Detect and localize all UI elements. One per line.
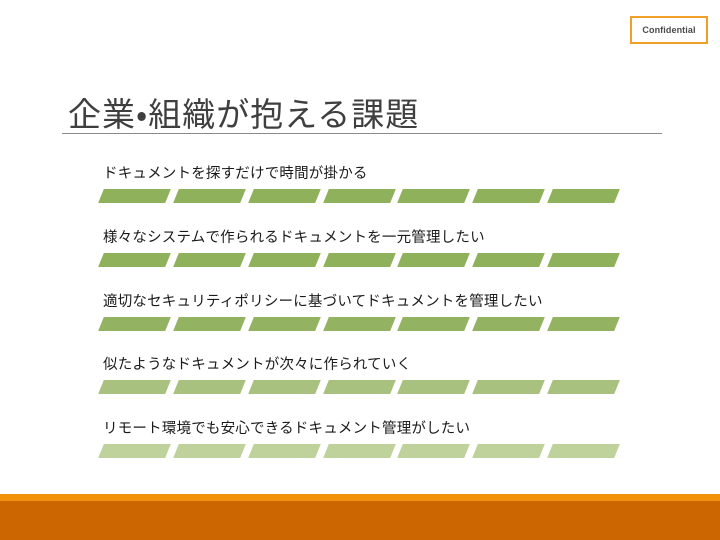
bullet-item-label: 様々なシステムで作られるドキュメントを一元管理したい	[103, 226, 485, 247]
page-title: 企業・組織が抱える課題	[68, 88, 419, 136]
underline-bar-segment	[472, 317, 545, 331]
underline-bar-segment	[398, 253, 471, 267]
bullet-item-label: 適切なセキュリティポリシーに基づいてドキュメントを管理したい	[103, 290, 543, 311]
underline-bar-segment	[398, 380, 471, 394]
confidential-badge: Confidential	[630, 16, 708, 44]
underline-bar-segment	[98, 444, 171, 458]
underline-bar-segment	[472, 189, 545, 203]
presentation-slide: Confidential 企業・組織が抱える課題 ドキュメントを探すだけで時間が…	[0, 0, 720, 540]
title-divider	[62, 133, 662, 134]
underline-bar-segment	[547, 380, 620, 394]
bullet-underline-bars	[101, 444, 617, 458]
footer-bar: VICENT COPYRIGHT©VICENT CO.,LTD. ALL RIG…	[0, 501, 720, 540]
underline-bar-segment	[547, 317, 620, 331]
underline-bar-segment	[248, 380, 321, 394]
underline-bar-segment	[173, 444, 246, 458]
underline-bar-segment	[248, 317, 321, 331]
underline-bar-segment	[173, 317, 246, 331]
underline-bar-segment	[248, 253, 321, 267]
confidential-badge-label: Confidential	[642, 25, 695, 35]
underline-bar-segment	[398, 317, 471, 331]
underline-bar-segment	[472, 253, 545, 267]
underline-bar-segment	[323, 253, 396, 267]
underline-bar-segment	[173, 189, 246, 203]
underline-bar-segment	[98, 253, 171, 267]
underline-bar-segment	[323, 189, 396, 203]
bullet-underline-bars	[101, 253, 617, 267]
underline-bar-segment	[98, 189, 171, 203]
underline-bar-segment	[398, 444, 471, 458]
underline-bar-segment	[173, 253, 246, 267]
underline-bar-segment	[547, 444, 620, 458]
underline-bar-segment	[248, 444, 321, 458]
underline-bar-segment	[98, 380, 171, 394]
underline-bar-segment	[248, 189, 321, 203]
bullet-underline-bars	[101, 380, 617, 394]
bullet-item-label: ドキュメントを探すだけで時間が掛かる	[103, 162, 368, 183]
footer-accent-stripe	[0, 494, 720, 501]
bullet-item-label: リモート環境でも安心できるドキュメント管理がしたい	[103, 417, 470, 438]
underline-bar-segment	[398, 189, 471, 203]
bullet-underline-bars	[101, 317, 617, 331]
underline-bar-segment	[323, 317, 396, 331]
underline-bar-segment	[547, 189, 620, 203]
bullet-underline-bars	[101, 189, 617, 203]
underline-bar-segment	[323, 380, 396, 394]
underline-bar-segment	[98, 317, 171, 331]
underline-bar-segment	[472, 380, 545, 394]
underline-bar-segment	[323, 444, 396, 458]
underline-bar-segment	[173, 380, 246, 394]
underline-bar-segment	[547, 253, 620, 267]
underline-bar-segment	[472, 444, 545, 458]
bullet-item-label: 似たようなドキュメントが次々に作られていく	[103, 353, 411, 374]
